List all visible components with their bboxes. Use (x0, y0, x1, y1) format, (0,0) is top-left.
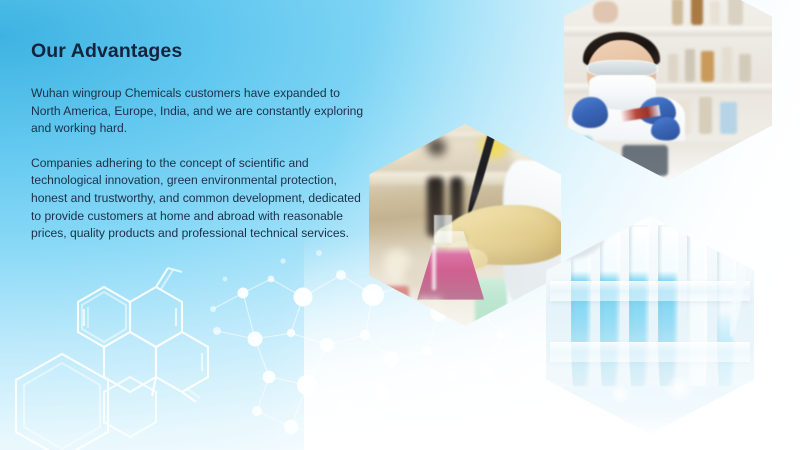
hexagon-molecule-lineart (0, 260, 270, 450)
scientist-photo (564, 0, 772, 180)
slide-canvas: Our Advantages Wuhan wingroup Chemicals … (0, 0, 800, 450)
lab-flask-photo-art (369, 124, 561, 326)
lab-flask-photo (369, 124, 561, 326)
scientist-photo-art (564, 0, 772, 180)
page-title: Our Advantages (31, 40, 366, 63)
test-tubes-photo (546, 216, 754, 434)
text-column: Our Advantages Wuhan wingroup Chemicals … (31, 40, 366, 243)
body-paragraph-1: Wuhan wingroup Chemicals customers have … (31, 85, 366, 138)
body-paragraph-2: Companies adhering to the concept of sci… (31, 155, 366, 243)
test-tubes-photo-art (546, 216, 754, 434)
